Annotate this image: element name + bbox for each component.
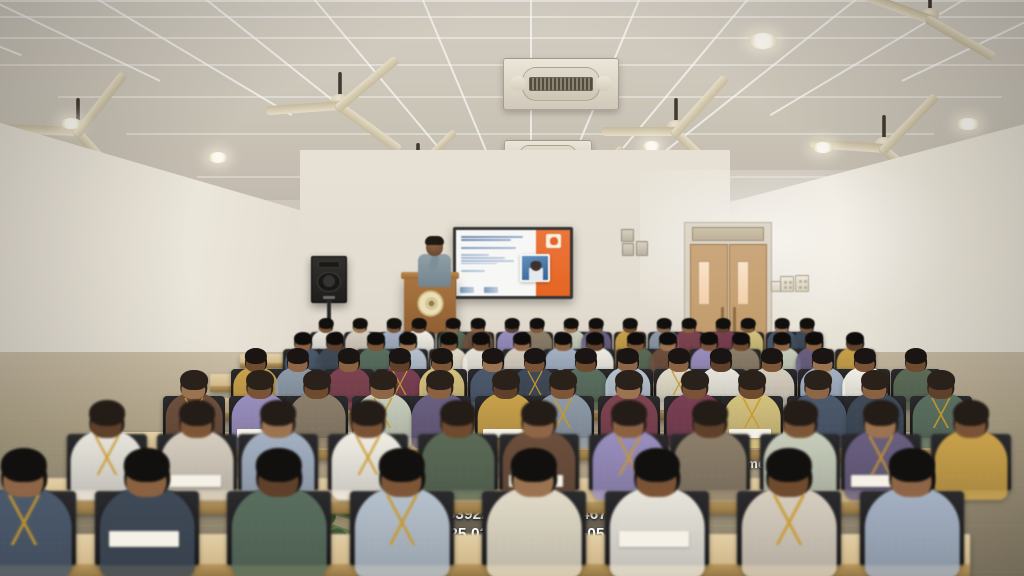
ceiling-downlight: [60, 118, 82, 129]
wall-junction-box: [622, 243, 634, 256]
audience-member: [355, 448, 450, 576]
wall-junction-box: [636, 241, 648, 256]
ceiling-downlight: [812, 142, 834, 153]
door-transom-window: [692, 227, 764, 241]
light-switch-plate[interactable]: [780, 276, 794, 292]
photograph: Kapu, Udupi, 576122, Karnataka, India La…: [0, 0, 1024, 576]
paper-sheet: [619, 531, 689, 547]
audience-member: [0, 448, 71, 576]
slide-footer-logos: [460, 287, 532, 293]
presenter: [417, 237, 451, 285]
presentation-display: [453, 227, 573, 299]
slide-content: [456, 230, 570, 296]
slide-portrait-photo: [520, 254, 550, 282]
audience-member: [232, 448, 327, 576]
slide-badge-icon: [546, 234, 561, 248]
light-switch-plate[interactable]: [771, 281, 781, 292]
slide-accent-panel: [536, 230, 570, 296]
audience-member: [865, 448, 960, 576]
paper-sheet: [109, 531, 179, 547]
pa-speaker: [311, 256, 347, 303]
ceiling-downlight: [748, 33, 778, 49]
audience-member: [610, 448, 705, 576]
audience-member: [487, 448, 582, 576]
audience-member: [100, 448, 195, 576]
light-switch-plate[interactable]: [795, 275, 809, 292]
door-vision-panel: [698, 261, 710, 305]
institution-emblem: [417, 290, 444, 317]
door-vision-panel: [737, 261, 749, 305]
ceiling-downlight: [956, 118, 980, 130]
wall-junction-box: [621, 229, 634, 242]
audience-member: [742, 448, 837, 576]
ceiling-downlight: [208, 152, 228, 163]
ac-cassette-unit: [503, 58, 619, 110]
